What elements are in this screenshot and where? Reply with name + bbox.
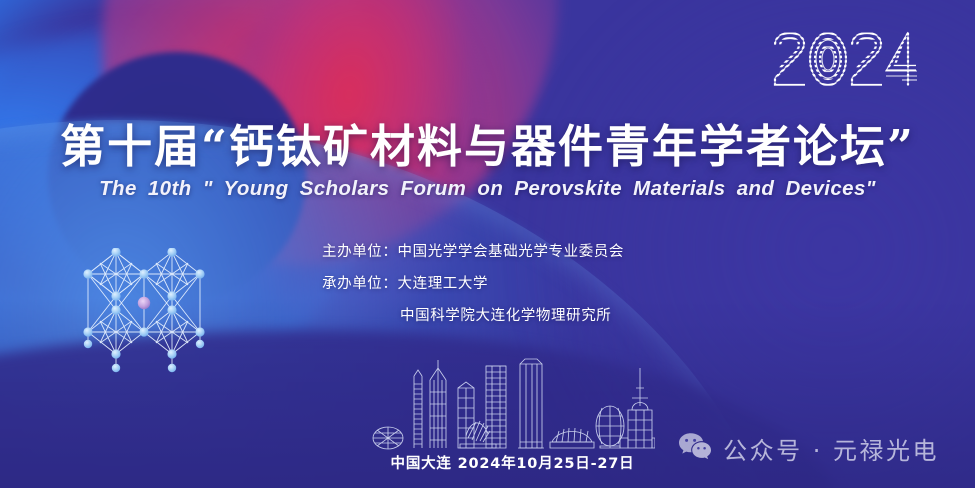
poster-title-english: The 10th " Young Scholars Forum on Perov…: [0, 177, 975, 201]
wechat-icon: [678, 432, 712, 465]
perovskite-lattice-icon: [72, 248, 224, 380]
organizer-line-host: 主办单位：中国光学学会基础光学专业委员会: [322, 236, 624, 268]
dalian-skyline-graphic: [370, 358, 655, 450]
poster-title-chinese: 第十届“钙钛矿材料与器件青年学者论坛”: [0, 110, 975, 175]
year-badge: [771, 28, 919, 90]
location-and-date: 中国大连 2024年10月25日-27日: [370, 452, 655, 473]
conference-poster: 第十届“钙钛矿材料与器件青年学者论坛” The 10th " Young Sch…: [0, 0, 975, 488]
organizer-line-cohost: 承办单位：大连理工大学: [322, 268, 624, 300]
watermark-text: 公众号 · 元禄光电: [723, 431, 939, 466]
wechat-watermark: 公众号 · 元禄光电: [678, 431, 939, 466]
organizer-block: 主办单位：中国光学学会基础光学专业委员会 承办单位：大连理工大学 中国科学院大连…: [322, 236, 624, 332]
organizer-line-cohost-2: 中国科学院大连化学物理研究所: [322, 300, 624, 332]
